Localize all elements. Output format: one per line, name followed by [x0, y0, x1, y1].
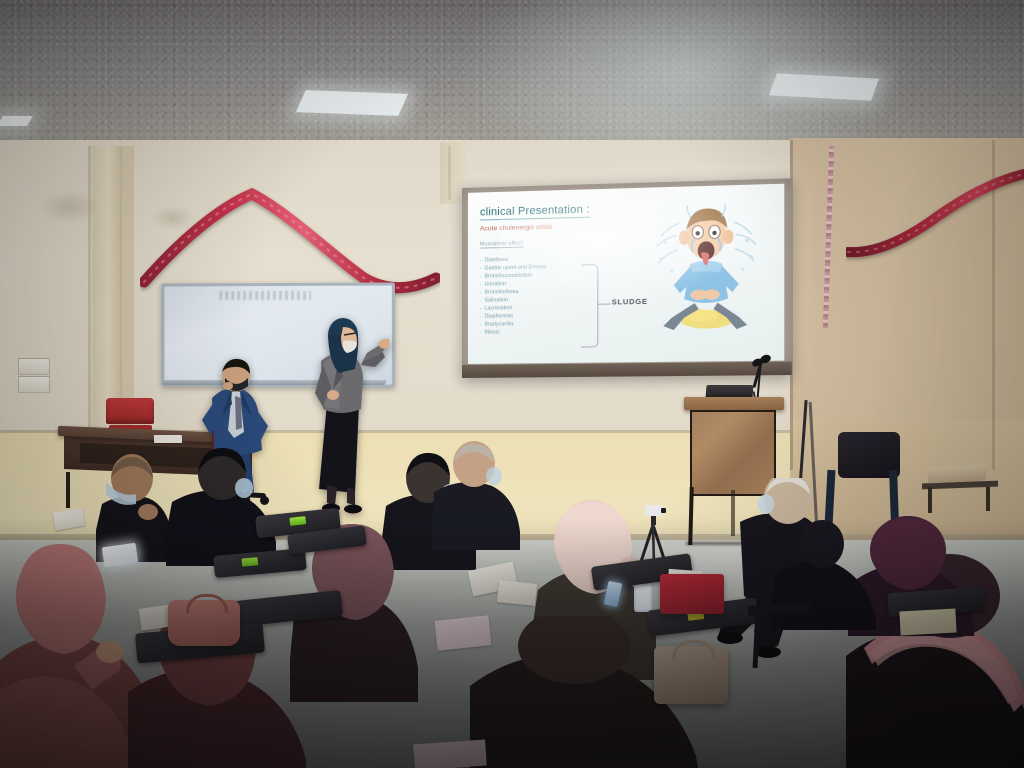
folded-cloth: [928, 464, 986, 483]
slide-brace: [581, 264, 598, 347]
screen-surface: clinical Presentation : Acute cholenergi…: [468, 184, 784, 364]
red-folder[interactable]: [660, 574, 724, 614]
presenter: [303, 317, 389, 517]
lectern-leg: [688, 487, 693, 545]
handout-paper[interactable]: [497, 580, 537, 606]
slide-mnemonic-label: SLUDGE: [612, 297, 648, 307]
side-table-leg: [928, 487, 932, 513]
wall-stain: [40, 190, 100, 224]
handout-paper[interactable]: [435, 615, 492, 650]
audience-member: [164, 448, 282, 566]
side-table-leg: [986, 487, 990, 511]
slide-title: clinical Presentation :: [480, 203, 590, 220]
desk-leg: [66, 472, 70, 508]
audience-member: [770, 520, 880, 630]
wall-seam: [448, 146, 451, 200]
lectern-top: [684, 397, 784, 410]
chair-back: [106, 398, 154, 424]
projection-screen[interactable]: clinical Presentation : Acute cholenergi…: [462, 178, 792, 378]
paper-sheet[interactable]: [154, 435, 182, 443]
wall-seam: [88, 146, 91, 436]
slide-section-label: Muscarinic effect:: [480, 241, 524, 249]
handout-paper[interactable]: [413, 740, 487, 768]
wall-pillar-left: [92, 146, 122, 438]
ceiling-light-panel: [0, 116, 33, 126]
slide-illustration: [649, 203, 762, 337]
ceiling-light-panel: [296, 90, 408, 116]
light-switch-plate[interactable]: [18, 376, 50, 393]
handout-paper[interactable]: [899, 609, 956, 636]
wall-seam: [992, 140, 995, 470]
wall-stain: [150, 205, 196, 231]
whiteboard-handwriting: [219, 291, 311, 300]
desk-sticker: [289, 516, 306, 526]
slide-brace-stem: [597, 303, 610, 304]
audience-member: [430, 440, 522, 550]
desk-sticker: [242, 557, 259, 566]
slide-content: clinical Presentation : Acute cholenergi…: [468, 184, 784, 364]
lecture-hall-photo: clinical Presentation : Acute cholenergi…: [0, 0, 1024, 768]
wall-seam: [120, 146, 134, 436]
light-switch-plate[interactable]: [18, 358, 50, 375]
